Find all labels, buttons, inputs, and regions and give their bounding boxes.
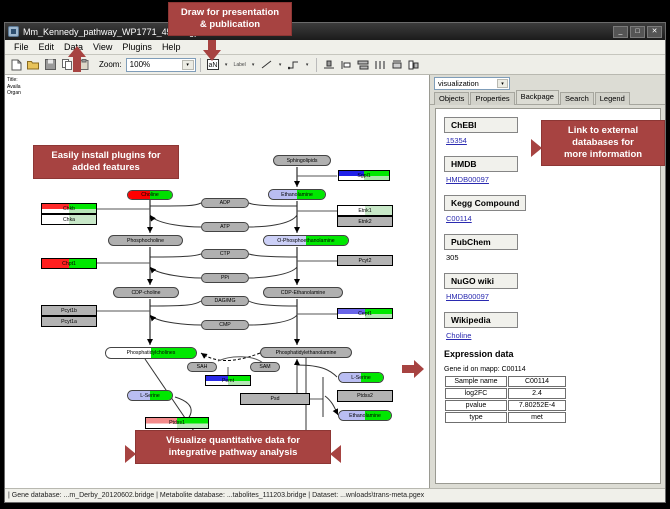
chevron-down-icon[interactable]: ▾ xyxy=(497,79,508,88)
node-o-phosphoethanolamine[interactable]: O-Phosphoethanolamine xyxy=(263,235,349,246)
line-dropdown-icon[interactable]: ▾ xyxy=(276,57,285,73)
group-icon[interactable] xyxy=(389,57,405,73)
row-key: pvalue xyxy=(445,400,507,411)
tab-search[interactable]: Search xyxy=(560,92,594,105)
tab-properties[interactable]: Properties xyxy=(470,92,514,105)
node-cdp-choline[interactable]: CDP-choline xyxy=(113,287,179,298)
section-heading-nugo: NuGO wiki xyxy=(444,273,518,289)
node-etnk2[interactable]: Etnk2 xyxy=(337,216,393,227)
callout-draw: Draw for presentation & publication xyxy=(168,2,292,36)
pathway-canvas[interactable]: Title: Availa Organ xyxy=(5,75,430,488)
table-row: pvalue 7.80252E-4 xyxy=(445,400,566,411)
section-heading-hmdb: HMDB xyxy=(444,156,518,172)
row-value: met xyxy=(508,412,566,423)
row-key: log2FC xyxy=(445,388,507,399)
side-tabs: Objects Properties Backpage Search Legen… xyxy=(430,91,665,105)
node-sphingolipids[interactable]: Sphingolipids xyxy=(273,155,331,166)
node-pcyt1a[interactable]: Pcyt1a xyxy=(41,316,97,327)
link-nugo[interactable]: HMDB00097 xyxy=(446,292,660,301)
status-text: | Gene database: ...m_Derby_20120602.bri… xyxy=(8,492,424,499)
row-value: C00114 xyxy=(508,376,566,387)
node-chkb[interactable]: Chkb xyxy=(41,203,97,214)
callout-visualize-arrow-right xyxy=(402,360,424,378)
new-file-icon[interactable] xyxy=(8,57,24,73)
node-ptdss1[interactable]: Ptdss1 xyxy=(145,417,209,429)
section-heading-kegg: Kegg Compound xyxy=(444,195,526,211)
node-ppi[interactable]: PPi xyxy=(201,273,249,283)
value-pubchem: 305 xyxy=(446,253,660,262)
label-icon[interactable]: Label xyxy=(232,57,248,73)
section-heading-pubchem: PubChem xyxy=(444,234,518,250)
order-icon[interactable] xyxy=(406,57,422,73)
zoom-value: 100% xyxy=(130,60,150,69)
menu-view[interactable]: View xyxy=(88,41,117,53)
row-value: 7.80252E-4 xyxy=(508,400,566,411)
node-phosphocholine[interactable]: Phosphocholine xyxy=(108,235,183,246)
align-top-icon[interactable] xyxy=(321,57,337,73)
visualization-combo[interactable]: visualization ▾ xyxy=(434,77,510,90)
elbow-connector-icon[interactable] xyxy=(286,57,302,73)
chevron-down-icon[interactable]: ▾ xyxy=(182,60,194,70)
app-icon xyxy=(8,26,19,37)
node-sah[interactable]: SAH xyxy=(187,362,217,372)
section-heading-chebi: ChEBI xyxy=(444,117,518,133)
expression-data-title: Expression data xyxy=(444,349,660,359)
close-button[interactable]: ✕ xyxy=(647,26,662,38)
node-cept1[interactable]: Cept1 xyxy=(337,308,393,319)
menu-bar: File Edit Data View Plugins Help xyxy=(5,40,665,55)
link-kegg[interactable]: C00114 xyxy=(446,214,660,223)
callout-draw-arrow xyxy=(203,40,221,62)
label-dropdown-icon[interactable]: ▾ xyxy=(249,57,258,73)
row-key: Sample name xyxy=(445,376,507,387)
zoom-label: Zoom: xyxy=(99,60,122,69)
line-icon[interactable] xyxy=(259,57,275,73)
title-bar: Mm_Kennedy_pathway_WP1771_45176.gpml _ □… xyxy=(5,23,665,40)
row-value: 2.4 xyxy=(508,388,566,399)
save-icon[interactable] xyxy=(42,57,58,73)
node-choline-top[interactable]: Choline xyxy=(127,190,173,200)
node-pcyt1b[interactable]: Pcyt1b xyxy=(41,305,97,316)
node-l-serine-right[interactable]: L-Serine xyxy=(338,372,384,383)
callout-plugins: Easily install plugins for added feature… xyxy=(33,145,179,179)
table-row: Sample name C00114 xyxy=(445,376,566,387)
node-ethanolamine-top[interactable]: Ethanolamine xyxy=(268,189,326,200)
distribute-icon[interactable] xyxy=(372,57,388,73)
zoom-combo[interactable]: 100% ▾ xyxy=(126,58,196,72)
node-sam[interactable]: SAM xyxy=(250,362,280,372)
maximize-button[interactable]: □ xyxy=(630,26,645,38)
window-controls: _ □ ✕ xyxy=(613,26,662,38)
link-hmdb[interactable]: HMDB00097 xyxy=(446,175,660,184)
node-adp[interactable]: ADP xyxy=(201,198,249,208)
application-window: Mm_Kennedy_pathway_WP1771_45176.gpml _ □… xyxy=(4,22,666,503)
tool-bar: Zoom: 100% ▾ aN ▾ Label ▾ ▾ ▾ xyxy=(5,55,665,75)
node-phosphatidylethanolamine[interactable]: Phosphatidylethanolamine xyxy=(260,347,352,358)
minimize-button[interactable]: _ xyxy=(613,26,628,38)
node-chpt1[interactable]: Chpt1 xyxy=(41,258,97,269)
node-cdp-ethanolamine[interactable]: CDP-Ethanolamine xyxy=(263,287,343,298)
open-folder-icon[interactable] xyxy=(25,57,41,73)
datanode-dropdown-icon[interactable]: ▾ xyxy=(222,57,231,73)
toolbar-separator xyxy=(200,58,201,72)
connector-dropdown-icon[interactable]: ▾ xyxy=(303,57,312,73)
tab-objects[interactable]: Objects xyxy=(434,92,469,105)
node-sgpl1[interactable]: Sgpl1 xyxy=(338,170,390,181)
gene-id-line: Gene id on mapp: C00114 xyxy=(444,366,660,373)
section-heading-wikipedia: Wikipedia xyxy=(444,312,518,328)
menu-edit[interactable]: Edit xyxy=(34,41,60,53)
callout-plugins-arrow xyxy=(68,46,86,72)
menu-help[interactable]: Help xyxy=(157,41,186,53)
node-psd[interactable]: Psd xyxy=(240,393,310,405)
node-etnk1[interactable]: Etnk1 xyxy=(337,205,393,216)
expression-table: Sample name C00114 log2FC 2.4 pvalue 7.8… xyxy=(444,375,567,424)
node-cmp[interactable]: CMP xyxy=(201,320,249,330)
tab-backpage[interactable]: Backpage xyxy=(516,90,559,104)
table-row: type met xyxy=(445,412,566,423)
visualization-row: visualization ▾ xyxy=(430,75,665,91)
node-pcyt2[interactable]: Pcyt2 xyxy=(337,255,393,266)
status-bar: | Gene database: ...m_Derby_20120602.bri… xyxy=(5,488,665,502)
row-key: type xyxy=(445,412,507,423)
node-l-serine-left[interactable]: L-Serine xyxy=(127,390,173,401)
node-atp[interactable]: ATP xyxy=(201,222,249,232)
tab-legend[interactable]: Legend xyxy=(595,92,630,105)
link-wikipedia[interactable]: Choline xyxy=(446,331,660,340)
node-ptdss2[interactable]: Ptdss2 xyxy=(337,390,393,402)
node-pemt[interactable]: Pemt xyxy=(205,375,251,386)
stack-vertical-icon[interactable] xyxy=(355,57,371,73)
node-phosphatidylcholines[interactable]: Phosphatidylcholines xyxy=(105,347,197,359)
align-left-icon[interactable] xyxy=(338,57,354,73)
callout-links: Link to external databases for more info… xyxy=(541,120,665,166)
node-ctp[interactable]: CTP xyxy=(201,249,249,259)
menu-file[interactable]: File xyxy=(9,41,34,53)
toolbar-separator-2 xyxy=(316,58,317,72)
svg-text:aN: aN xyxy=(208,62,217,69)
node-ethanolamine-right[interactable]: Ethanolamine xyxy=(338,410,392,421)
menu-plugins[interactable]: Plugins xyxy=(117,41,157,53)
node-dag-mg[interactable]: DAG/MG xyxy=(201,296,249,306)
callout-visualize: Visualize quantitative data for integrat… xyxy=(135,430,331,464)
node-chka[interactable]: Chka xyxy=(41,214,97,225)
table-row: log2FC 2.4 xyxy=(445,388,566,399)
visualization-value: visualization xyxy=(438,79,479,88)
